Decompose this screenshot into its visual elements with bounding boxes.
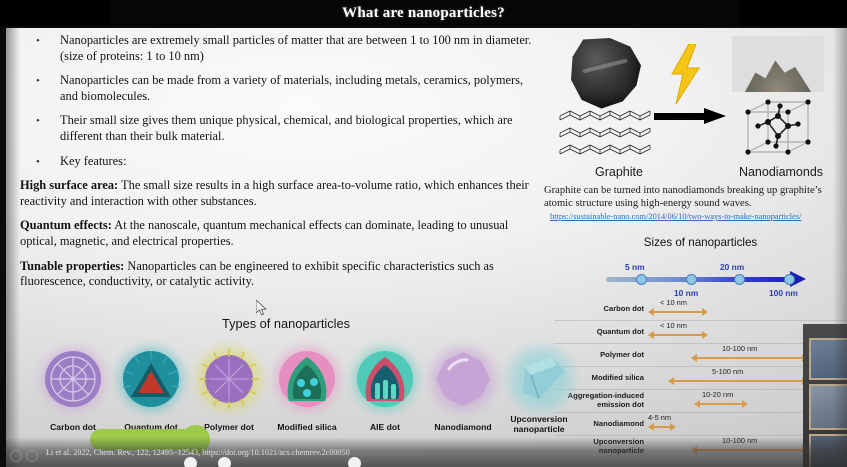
slide-footer: Li et al. 2022, Chem. Rev., 122, 12495−1… — [6, 445, 847, 467]
source-link[interactable]: https://sustainable-nano.com/2014/06/10/… — [550, 212, 801, 221]
size-scale-axis: 5 nm 20 nm 10 nm 100 nm — [606, 266, 811, 292]
nanoparticle-quantum-dot-icon — [114, 342, 188, 416]
transformation-arrow-icon — [654, 108, 726, 124]
scale-label-100nm: 100 nm — [769, 288, 798, 298]
diamond-lattice-icon — [740, 96, 818, 164]
scale-node-100nm — [784, 274, 795, 285]
feature-term: Quantum effects: — [20, 218, 112, 232]
sizes-chart-title: Sizes of nanoparticles — [554, 236, 847, 249]
bullet-list: •Nanoparticles are extremely small parti… — [20, 33, 540, 169]
feature-term: High surface area: — [20, 178, 118, 192]
scale-node-20nm — [734, 274, 745, 285]
graphite-label: Graphite — [564, 165, 674, 179]
size-range-label: 4-5 nm — [648, 413, 671, 422]
size-row-label: Quantum dot — [560, 321, 644, 343]
bullet-item: •Their small size gives them unique phys… — [20, 113, 540, 144]
nanodiamond-powder-image — [732, 36, 824, 92]
annotation-dot — [348, 457, 361, 467]
particle-label-nanodiamond: Nanodiamond — [421, 422, 505, 432]
particle-label-aie-dot: AIE dot — [343, 422, 427, 432]
nanoparticle-aie-dot-icon — [348, 342, 422, 416]
particle-label-upconversion: Upconversion nanoparticle — [499, 414, 579, 434]
page-title: What are nanoparticles? — [0, 0, 847, 26]
slide-canvas: •Nanoparticles are extremely small parti… — [6, 28, 847, 467]
size-row-label: Carbon dot — [560, 298, 644, 320]
size-range-bar — [700, 403, 742, 405]
graphite-caption: Graphite can be turned into nanodiamonds… — [544, 185, 840, 210]
size-range-label: 5-100 nm — [712, 367, 743, 376]
previous-slide-button[interactable] — [10, 450, 22, 462]
feature-high-surface-area: High surface area: The small size result… — [20, 178, 540, 209]
slide-title-bar: What are nanoparticles? — [0, 0, 847, 26]
bullet-item: •Nanoparticles can be made from a variet… — [20, 73, 540, 104]
edge-shadow-left — [6, 28, 20, 467]
bullet-marker: • — [36, 34, 40, 50]
bullet-item: •Nanoparticles are extremely small parti… — [20, 33, 540, 64]
mouse-cursor — [256, 300, 268, 316]
size-range-bar — [697, 357, 802, 359]
size-range-label: < 10 nm — [660, 298, 687, 307]
scale-label-10nm: 10 nm — [674, 288, 698, 298]
nanoparticle-modified-silica-icon — [270, 342, 344, 416]
types-chart-title: Types of nanoparticles — [16, 316, 556, 331]
scale-node-5nm — [636, 274, 647, 285]
slide-body-text: •Nanoparticles are extremely small parti… — [20, 33, 540, 299]
annotation-dot — [218, 457, 231, 467]
lightning-bolt-icon — [668, 44, 702, 104]
particle-label-modified-silica: Modified silica — [265, 422, 349, 432]
size-range-bar — [654, 426, 670, 428]
graphene-sheets-icon — [556, 104, 660, 158]
nanoparticle-upconversion-icon — [504, 342, 574, 416]
edge-shadow-right — [833, 28, 847, 467]
graphite-rock-image — [568, 38, 644, 110]
bullet-marker: • — [36, 155, 40, 171]
bullet-text: Their small size gives them unique physi… — [60, 113, 512, 143]
nanoparticle-polymer-dot-icon — [192, 342, 266, 416]
bullet-marker: • — [36, 114, 40, 130]
scale-label-20nm: 20 nm — [720, 262, 744, 272]
scale-label-5nm: 5 nm — [625, 262, 645, 272]
size-range-bar — [654, 334, 702, 336]
bullet-text: Key features: — [60, 154, 126, 168]
graphite-to-nanodiamond-figure: Graphite Nanodiamonds Graphite can be tu… — [536, 30, 841, 235]
size-range-label: < 10 nm — [660, 321, 687, 330]
play-button[interactable] — [26, 450, 38, 462]
feature-term: Tunable properties: — [20, 259, 124, 273]
bullet-marker: • — [36, 74, 40, 90]
citation-text: Li et al. 2022, Chem. Rev., 122, 12495−1… — [46, 448, 350, 457]
nanoparticle-nanodiamond-icon — [426, 342, 500, 416]
presentation-viewer: •Nanoparticles are extremely small parti… — [0, 0, 847, 467]
size-row-carbon-dot: Carbon dot < 10 nm — [554, 298, 847, 321]
bullet-text: Nanoparticles can be made from a variety… — [60, 73, 523, 103]
size-range-label: 10-20 nm — [702, 390, 733, 399]
bullet-text: Nanoparticles are extremely small partic… — [60, 33, 531, 63]
feature-quantum-effects: Quantum effects: At the nanoscale, quant… — [20, 218, 540, 249]
scale-node-10nm — [686, 274, 697, 285]
feature-tunable-properties: Tunable properties: Nanoparticles can be… — [20, 259, 540, 290]
annotation-dot — [184, 457, 197, 467]
bullet-item: •Key features: — [20, 154, 540, 170]
size-range-bar — [674, 380, 802, 382]
scale-gradient-line — [606, 277, 792, 282]
nanoparticle-carbon-dot-icon — [36, 342, 110, 416]
size-range-label: 10-100 nm — [722, 344, 757, 353]
nanodiamonds-label: Nanodiamonds — [721, 165, 841, 179]
size-range-bar — [654, 311, 702, 313]
